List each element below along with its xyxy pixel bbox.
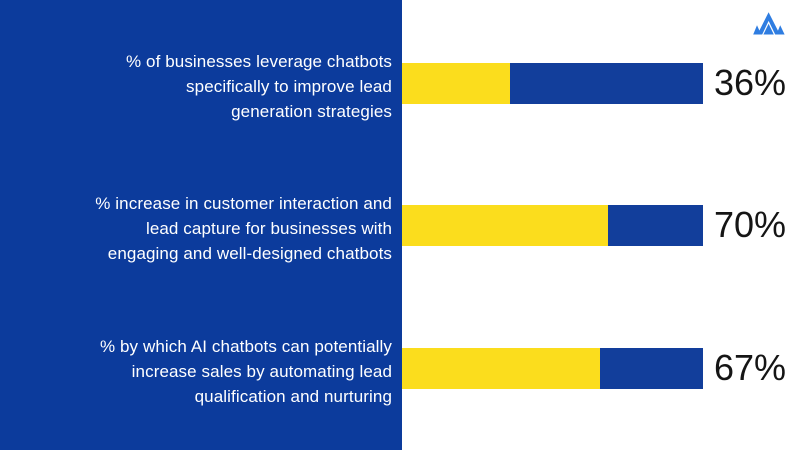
stat-label-line: engaging and well-designed chatbots bbox=[10, 241, 392, 266]
stat-label-line: % increase in customer interaction and bbox=[10, 191, 392, 216]
bar-fill bbox=[402, 348, 600, 389]
bar-fill bbox=[402, 63, 510, 104]
stat-label-line: qualification and nurturing bbox=[10, 384, 392, 409]
stat-label: % of businesses leverage chatbots specif… bbox=[10, 49, 392, 124]
stat-label-line: generation strategies bbox=[10, 99, 392, 124]
stat-label-line: increase sales by automating lead bbox=[10, 359, 392, 384]
stat-label-line: lead capture for businesses with bbox=[10, 216, 392, 241]
stat-value: 70% bbox=[714, 203, 800, 247]
stat-value: 36% bbox=[714, 61, 800, 105]
bar-track bbox=[402, 205, 703, 246]
stat-bar bbox=[402, 205, 703, 246]
stat-row: % of businesses leverage chatbots specif… bbox=[0, 23, 800, 143]
stat-label: % increase in customer interaction and l… bbox=[10, 191, 392, 266]
bar-fill bbox=[402, 205, 608, 246]
stat-label: % by which AI chatbots can potentially i… bbox=[10, 334, 392, 409]
stat-value: 67% bbox=[714, 346, 800, 390]
stat-label-line: specifically to improve lead bbox=[10, 74, 392, 99]
stat-row: % by which AI chatbots can potentially i… bbox=[0, 308, 800, 428]
stat-row: % increase in customer interaction and l… bbox=[0, 165, 800, 285]
stat-bar bbox=[402, 63, 703, 104]
infographic-canvas: % of businesses leverage chatbots specif… bbox=[0, 0, 800, 450]
stat-label-line: % of businesses leverage chatbots bbox=[10, 49, 392, 74]
stat-label-line: % by which AI chatbots can potentially bbox=[10, 334, 392, 359]
bar-track bbox=[402, 63, 703, 104]
stat-bar bbox=[402, 348, 703, 389]
bar-track bbox=[402, 348, 703, 389]
